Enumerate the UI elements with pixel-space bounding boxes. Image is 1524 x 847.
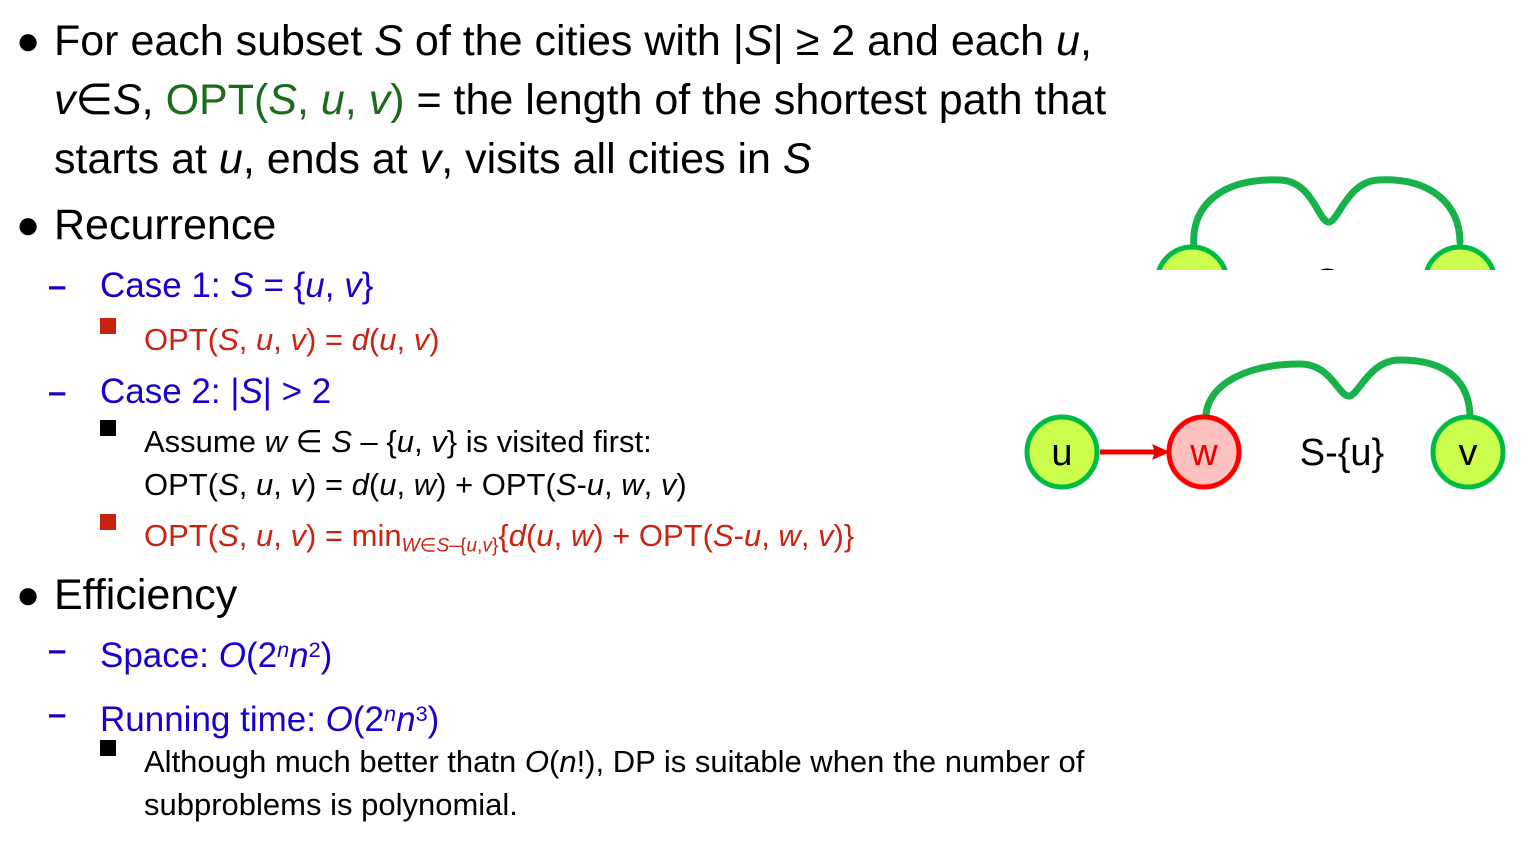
- diagram-top-svg: u v S: [1130, 100, 1524, 270]
- square-bullet-icon: [100, 318, 144, 334]
- sub-item-case-2-min-formula: OPT(S, u, v) = minW∈S–{u,v}{d(u, w) + OP…: [100, 514, 854, 567]
- case-2-assume-text: Assume w ∈ S – {u, v} is visited first:O…: [144, 420, 687, 506]
- square-bullet-icon: [100, 740, 144, 756]
- var-S: S: [783, 135, 812, 183]
- case-2-label: Case 2: |S| > 2: [100, 368, 331, 416]
- var-u: u: [1056, 17, 1080, 65]
- var-S: S: [113, 76, 142, 124]
- opt-call-green: OPT(S, u, v): [166, 76, 405, 124]
- green-path-curve: [1194, 180, 1460, 248]
- var-v: v: [420, 135, 442, 183]
- node-u-label: u: [1181, 262, 1202, 270]
- disc-bullet-icon: ●: [8, 566, 54, 624]
- dash-bullet-icon: –: [48, 368, 100, 416]
- slide-canvas: ● For each subset S of the cities with |…: [0, 0, 1524, 847]
- set-label-S: S: [1314, 262, 1339, 270]
- node-u-label: u: [1051, 432, 1072, 474]
- green-path-curve: [1206, 360, 1470, 418]
- sub-item-note: Although much better thatn O(n!), DP is …: [100, 740, 1084, 826]
- note-text: Although much better thatn O(n!), DP is …: [144, 740, 1084, 826]
- disc-bullet-icon: ●: [8, 196, 54, 254]
- dash-bullet-icon: –: [48, 626, 100, 674]
- definition-text: For each subset S of the cities with |S|…: [54, 12, 1106, 189]
- bullet-item-definition: ● For each subset S of the cities with |…: [8, 12, 1308, 189]
- var-v: v: [54, 76, 76, 124]
- case-1-formula: OPT(S, u, v) = d(u, v): [144, 318, 440, 361]
- diagram-bottom-svg: u w S-{u} v: [1000, 352, 1520, 512]
- sub-item-case-2: – Case 2: |S| > 2: [48, 368, 331, 416]
- diagram-path-u-w-v: u w S-{u} v: [1000, 352, 1520, 512]
- square-bullet-icon: [100, 420, 144, 436]
- case-2-min-formula: OPT(S, u, v) = minW∈S–{u,v}{d(u, w) + OP…: [144, 514, 854, 567]
- var-u: u: [219, 135, 243, 183]
- set-label-s-minus-u: S-{u}: [1300, 432, 1385, 474]
- node-w-label: w: [1189, 432, 1218, 474]
- diagram-path-u-to-v: u v S: [1130, 100, 1524, 270]
- square-bullet-icon: [100, 514, 144, 530]
- time-complexity: Running time: O(2nn3): [100, 690, 439, 744]
- sub-item-case-1-formula: OPT(S, u, v) = d(u, v): [100, 318, 440, 361]
- node-v-label: v: [1459, 432, 1478, 474]
- sub-item-space: – Space: O(2nn2): [48, 626, 332, 680]
- dash-bullet-icon: –: [48, 262, 100, 310]
- dash-bullet-icon: –: [48, 690, 100, 738]
- case-1-label: Case 1: S = {u, v}: [100, 262, 373, 310]
- sub-item-case-1: – Case 1: S = {u, v}: [48, 262, 373, 310]
- recurrence-heading: Recurrence: [54, 196, 276, 255]
- bullet-item-recurrence: ● Recurrence: [8, 196, 276, 255]
- var-S: S: [374, 17, 403, 65]
- space-complexity: Space: O(2nn2): [100, 626, 332, 680]
- efficiency-heading: Efficiency: [54, 566, 237, 625]
- sub-item-case-2-assume: Assume w ∈ S – {u, v} is visited first:O…: [100, 420, 687, 506]
- disc-bullet-icon: ●: [8, 12, 54, 70]
- var-S: S: [744, 17, 773, 65]
- bullet-item-efficiency: ● Efficiency: [8, 566, 237, 625]
- min-subscript: W∈S–{u,v}: [402, 535, 499, 556]
- sub-item-running-time: – Running time: O(2nn3): [48, 690, 439, 744]
- node-v-label: v: [1451, 262, 1470, 270]
